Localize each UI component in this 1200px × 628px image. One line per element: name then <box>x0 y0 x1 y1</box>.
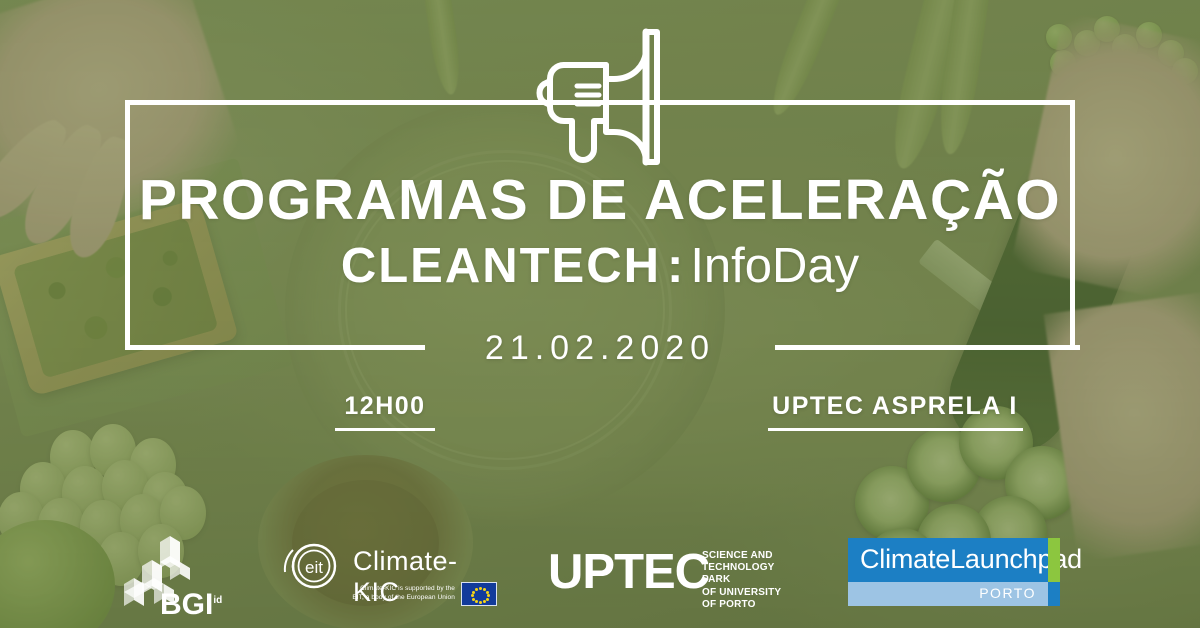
event-venue-rule <box>768 428 1023 431</box>
uptec-wordmark: UPTEC <box>548 544 709 600</box>
svg-text:eit: eit <box>305 558 323 577</box>
clp-main-block: ClimateLaunchpad <box>848 538 1048 582</box>
clp-green-accent <box>1048 538 1060 582</box>
title-block: PROGRAMAS DE ACELERAÇÃO CLEANTECH:InfoDa… <box>0 170 1200 293</box>
uptec-sub-line3: OF UNIVERSITY <box>702 587 781 598</box>
logo-eit-climate-kic: eit Climate-KIC Climate-KIC is supported… <box>283 540 493 618</box>
title-cleantech: CLEANTECH <box>341 239 661 293</box>
eit-tagline: Climate-KIC is supported by the EIT, a b… <box>331 584 455 603</box>
logo-bgi: BGIid <box>112 534 232 620</box>
uptec-subtitle: SCIENCE AND TECHNOLOGY PARK OF UNIVERSIT… <box>702 550 802 611</box>
clp-blue-accent <box>1048 582 1060 606</box>
event-title-secondary: CLEANTECH:InfoDay <box>0 240 1200 294</box>
sponsor-logo-strip: BGIid eit Climate-KIC Climate-KIC is sup… <box>0 518 1200 628</box>
title-separator: : <box>661 239 690 293</box>
european-union-flag-icon <box>461 582 497 606</box>
event-time-rule <box>335 428 435 431</box>
eit-tagline-line1: Climate-KIC is supported by the <box>360 585 455 592</box>
uptec-sub-line1: SCIENCE AND <box>702 550 773 561</box>
event-date: 21.02.2020 <box>459 329 741 368</box>
event-venue: UPTEC ASPRELA I <box>760 392 1030 431</box>
event-venue-label: UPTEC ASPRELA I <box>760 392 1030 421</box>
logo-climatelaunchpad: ClimateLaunchpad PORTO <box>848 538 1063 606</box>
event-time: 12H00 <box>325 392 445 431</box>
event-date-row: 21.02.2020 <box>0 329 1200 368</box>
event-time-label: 12H00 <box>325 392 445 421</box>
megaphone-icon <box>520 22 700 172</box>
eit-tagline-line2: EIT, a body of the European Union <box>352 594 455 601</box>
bgi-wordmark: BGIid <box>160 588 222 622</box>
uptec-sub-line2: TECHNOLOGY PARK <box>702 562 774 585</box>
bgi-name: BGI <box>160 588 213 621</box>
uptec-sub-line4: OF PORTO <box>702 599 756 610</box>
event-banner: PROGRAMAS DE ACELERAÇÃO CLEANTECH:InfoDa… <box>0 0 1200 628</box>
event-meta-row: 12H00 UPTEC ASPRELA I <box>0 392 1200 440</box>
logo-uptec: UPTEC SCIENCE AND TECHNOLOGY PARK OF UNI… <box>548 544 798 610</box>
clp-sub-block: PORTO <box>848 582 1048 606</box>
bgi-superscript: id <box>213 595 222 606</box>
clp-city: PORTO <box>979 585 1036 601</box>
eit-circle-icon: eit <box>283 542 345 590</box>
title-infoday: InfoDay <box>690 239 859 293</box>
event-title-primary: PROGRAMAS DE ACELERAÇÃO <box>0 170 1200 232</box>
